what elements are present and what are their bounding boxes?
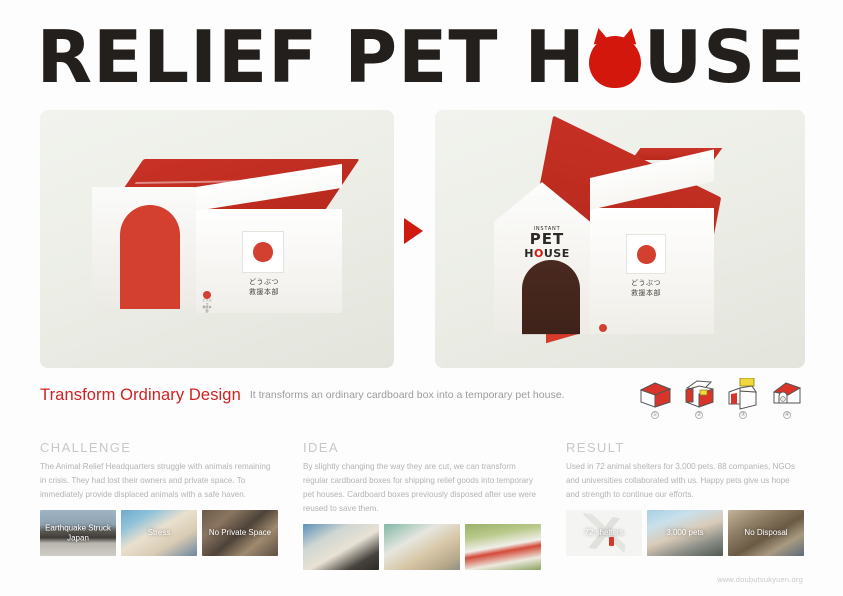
flat-cardboard-box-photo: どうぶつ 救援本部 どうぶつ 救援本部 xyxy=(40,110,394,368)
thumbnail-row-idea xyxy=(303,524,541,570)
brand-house-word: HOUSE xyxy=(516,248,578,260)
info-columns: CHALLENGE The Animal Relief Headquarters… xyxy=(40,440,805,565)
assembled-pet-house-photo: INSTANT PET HOUSE どうぶつ 救援本部 xyxy=(435,110,805,368)
footer-website-url[interactable]: www.doubutsukyuen.org xyxy=(717,575,803,584)
poster-title: RELIEF PET H USE xyxy=(0,18,843,96)
photo-comparison: どうぶつ 救援本部 どうぶつ 救援本部 xyxy=(40,110,805,368)
box-corner-mark: どうぶつ 救援本部 xyxy=(202,291,212,305)
instant-pet-house-brand: INSTANT PET HOUSE xyxy=(516,226,578,260)
house-jp-text: どうぶつ 救援本部 xyxy=(618,278,674,298)
transform-subtext: It transforms an ordinary cardboard box … xyxy=(250,389,565,401)
column-body-result: Used in 72 animal shelters for 3,000 pet… xyxy=(566,460,804,502)
step-3-box-unpacked-icon: ③ xyxy=(725,378,761,412)
column-title-challenge: CHALLENGE xyxy=(40,440,278,455)
transform-tagline-row: Transform Ordinary Design It transforms … xyxy=(40,380,805,410)
thumb-72-shelters[interactable]: 72 shelters xyxy=(566,510,642,556)
play-arrow-right-icon xyxy=(404,218,423,244)
step-2-open-box-with-goods-icon: ② xyxy=(681,378,717,412)
thumb-packing-box[interactable] xyxy=(303,524,379,570)
column-title-result: RESULT xyxy=(566,440,804,455)
column-idea: IDEA By slightly changing the way they a… xyxy=(303,440,541,565)
column-body-idea: By slightly changing the way they are cu… xyxy=(303,460,541,516)
thumb-earthquake[interactable]: Earthquake Struck Japan xyxy=(40,510,116,556)
thumbnail-row-challenge: Earthquake Struck Japan Stress No Privat… xyxy=(40,510,278,556)
title-part-1: RELIEF PET H xyxy=(37,21,586,93)
map-marker-icon xyxy=(609,537,614,546)
thumb-house-outdoors[interactable] xyxy=(465,524,541,570)
column-challenge: CHALLENGE The Animal Relief Headquarters… xyxy=(40,440,278,565)
transform-headline: Transform Ordinary Design xyxy=(40,386,241,405)
thumb-no-disposal[interactable]: No Disposal xyxy=(728,510,804,556)
title-part-2: USE xyxy=(644,21,807,93)
thumb-assembling-house[interactable] xyxy=(384,524,460,570)
column-result: RESULT Used in 72 animal shelters for 3,… xyxy=(566,440,804,565)
house-door-opening xyxy=(522,260,580,362)
house-stamp-label xyxy=(626,234,666,274)
column-title-idea: IDEA xyxy=(303,440,541,455)
step-4-pet-house-with-dog-icon: ④ xyxy=(769,378,805,412)
transform-steps: ① ② ③ xyxy=(637,378,805,412)
box-jp-text: どうぶつ 救援本部 xyxy=(234,277,294,297)
cat-head-icon xyxy=(587,28,643,90)
poster-canvas: RELIEF PET H USE xyxy=(0,0,843,596)
house-corner-mark xyxy=(598,324,608,332)
thumbnail-row-result: 72 shelters 3,000 pets No Disposal xyxy=(566,510,804,556)
thumb-no-private-space[interactable]: No Private Space xyxy=(202,510,278,556)
thumb-3000-pets[interactable]: 3,000 pets xyxy=(647,510,723,556)
step-1-closed-box-icon: ① xyxy=(637,378,673,412)
thumb-stress[interactable]: Stress xyxy=(121,510,197,556)
box-stamp-label xyxy=(242,231,284,273)
column-body-challenge: The Animal Relief Headquarters struggle … xyxy=(40,460,278,502)
